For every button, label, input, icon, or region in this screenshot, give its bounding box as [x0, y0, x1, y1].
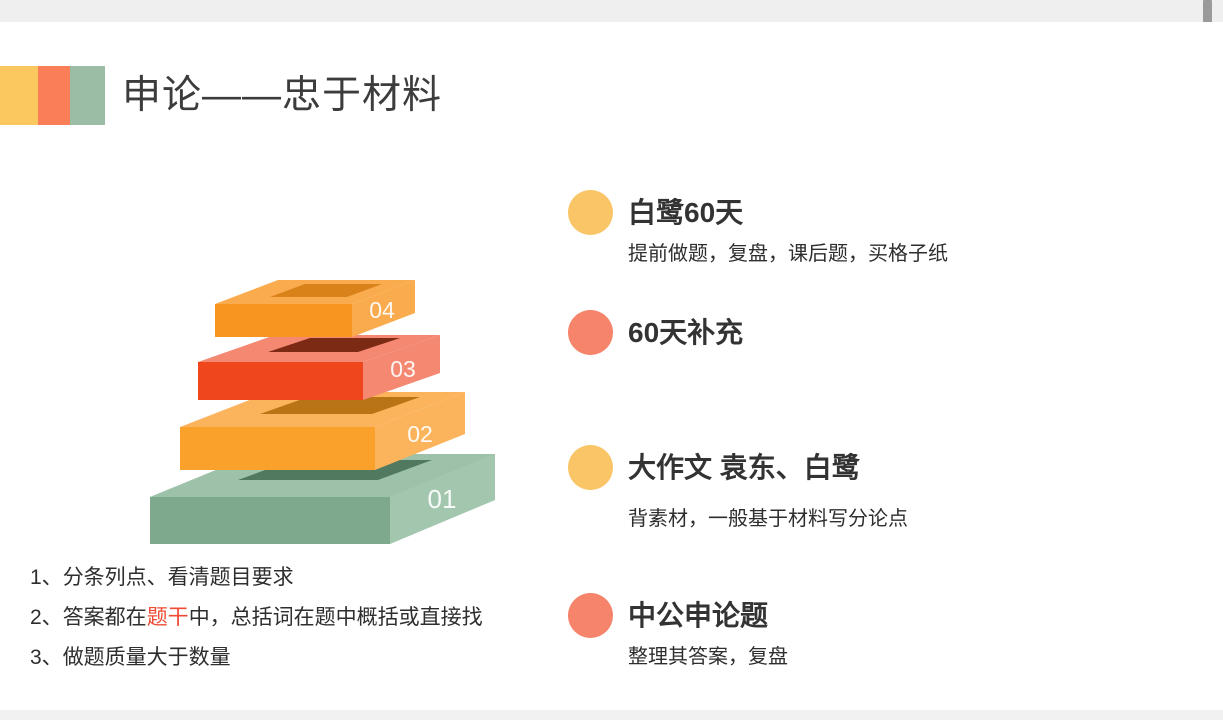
- note-text-1: 分条列点、看清题目要求: [63, 566, 294, 589]
- bullet-dot-icon-2: [568, 310, 613, 355]
- pyramid-label-02: 02: [407, 421, 433, 447]
- stacked-pyramid-diagram: 01 02 03: [120, 242, 540, 562]
- accent-swatch-sage: [70, 66, 105, 125]
- note-index-1: 1、: [30, 566, 63, 589]
- bullet-item-essay: 大作文 袁东、白鹭 背素材，一般基于材料写分论点: [568, 445, 908, 532]
- slide-header: 申论——忠于材料: [0, 66, 442, 125]
- note-highlight-2: 题干: [147, 606, 189, 629]
- pyramid-layer-03: 03: [198, 335, 440, 400]
- bullet-item-zhonggong: 中公申论题 整理其答案，复盘: [568, 593, 788, 670]
- browser-bottom-band: [0, 710, 1223, 720]
- browser-top-band: [0, 0, 1223, 22]
- note-item-1: 1、分条列点、看清题目要求: [30, 558, 560, 598]
- notes-list: 1、分条列点、看清题目要求 2、答案都在题干中，总括词在题中概括或直接找 3、做…: [30, 558, 560, 678]
- bullet-item-bailu60: 白鹭60天 提前做题，复盘，课后题，买格子纸: [568, 190, 948, 267]
- pyramid-layer-04: 04: [215, 280, 415, 337]
- note-text-3: 做题质量大于数量: [63, 646, 231, 669]
- bullet-heading-1: 白鹭60天: [628, 190, 948, 235]
- bullet-heading-4: 中公申论题: [628, 593, 788, 638]
- page-title: 申论——忠于材料: [122, 76, 442, 115]
- pyramid-label-03: 03: [390, 356, 416, 382]
- note-item-3: 3、做题质量大于数量: [30, 638, 560, 678]
- pyramid-label-01: 01: [428, 484, 457, 514]
- bullet-subtext-3: 背素材，一般基于材料写分论点: [628, 506, 908, 532]
- accent-swatch-yellow: [0, 66, 38, 125]
- note-item-2: 2、答案都在题干中，总括词在题中概括或直接找: [30, 598, 560, 638]
- accent-color-bar: [0, 66, 105, 125]
- note-index-2: 2、: [30, 606, 63, 629]
- slide-viewer: 申论——忠于材料: [0, 0, 1223, 720]
- note-text-2-before: 答案都在: [63, 606, 147, 629]
- presentation-slide: 申论——忠于材料: [0, 22, 1213, 710]
- bullet-dot-icon-3: [568, 445, 613, 490]
- bullet-item-60day-supplement: 60天补充: [568, 310, 743, 355]
- note-text-2-after: 中，总括词在题中概括或直接找: [189, 606, 483, 629]
- bullet-heading-3: 大作文 袁东、白鹭: [628, 445, 908, 490]
- bullet-subtext-4: 整理其答案，复盘: [628, 644, 788, 670]
- accent-swatch-coral: [38, 66, 70, 125]
- pyramid-label-04: 04: [369, 297, 395, 323]
- bullet-dot-icon-1: [568, 190, 613, 235]
- bullet-dot-icon-4: [568, 593, 613, 638]
- note-index-3: 3、: [30, 646, 63, 669]
- bullet-subtext-1: 提前做题，复盘，课后题，买格子纸: [628, 241, 948, 267]
- bullet-heading-2: 60天补充: [628, 310, 743, 355]
